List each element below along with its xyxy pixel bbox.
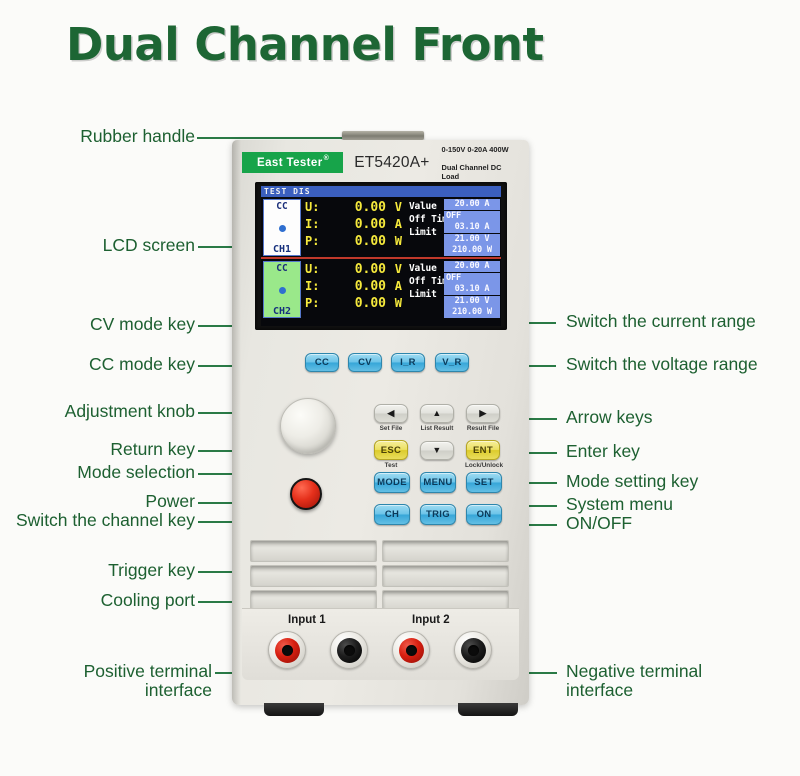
- mode-key[interactable]: MODE: [374, 472, 410, 493]
- annotation-mode-selection: Mode selection: [0, 463, 195, 482]
- input-1-negative-terminal[interactable]: [330, 631, 368, 669]
- channel-1-value-column: 20.00 A OFF 03.10 A 21.00 V 210.00 W: [444, 199, 500, 257]
- annotation-cv-mode-key: CV mode key: [0, 315, 195, 334]
- lcd-channel-1: CC CH1 U:0.00V I:0.00A P:0.00W Value Off…: [261, 197, 501, 259]
- page-title: Dual Channel Front: [66, 18, 543, 71]
- readout-value: 0.00: [322, 279, 386, 294]
- readout-label: U:: [305, 200, 322, 214]
- rubber-handle[interactable]: [342, 131, 424, 140]
- annotation-power: Power: [0, 492, 195, 511]
- esc-return-key[interactable]: ESC: [374, 440, 408, 460]
- input-1-label: Input 1: [288, 614, 326, 626]
- lcd-status-bar: TEST DIS: [261, 186, 501, 197]
- terminal-socket-red: [399, 638, 424, 663]
- trig-key[interactable]: TRIG: [420, 504, 456, 525]
- cooling-vent: [382, 565, 509, 587]
- value-cell[interactable]: 20.00 A: [444, 199, 500, 210]
- value-cell[interactable]: 20.00 A: [444, 261, 500, 272]
- annotation-system-menu: System menu: [566, 495, 673, 514]
- annotation-trigger-key: Trigger key: [0, 561, 195, 580]
- value-cell[interactable]: 210.00 W: [444, 307, 500, 318]
- readout-row: U:0.00V: [305, 200, 402, 217]
- annotation-return-key: Return key: [0, 440, 195, 459]
- annotation-positive-terminal: Positive terminal interface: [0, 662, 212, 700]
- arrow-right-icon: ▶: [479, 409, 486, 418]
- set-key[interactable]: SET: [466, 472, 502, 493]
- value-cell[interactable]: 21.00 V: [444, 296, 500, 307]
- current-range-key[interactable]: I_R: [391, 353, 425, 372]
- device-foot-right: [458, 703, 518, 716]
- annotation-on-off: ON/OFF: [566, 514, 632, 533]
- readout-row: U:0.00V: [305, 262, 402, 279]
- arrow-right-key[interactable]: ▶: [466, 404, 500, 423]
- input-2-label: Input 2: [412, 614, 450, 626]
- annotation-switch-channel-key: Switch the channel key: [0, 511, 195, 530]
- channel-2-indicator-dot: [279, 287, 286, 294]
- power-button[interactable]: [290, 478, 322, 510]
- annotation-mode-setting-key: Mode setting key: [566, 472, 698, 491]
- readout-value: 0.00: [322, 217, 386, 232]
- readout-unit: V: [386, 200, 402, 214]
- arrow-left-key[interactable]: ◀: [374, 404, 408, 423]
- result-file-sublabel: Result File: [464, 425, 502, 432]
- lcd-display: TEST DIS CC CH1 U:0.00V I:0.00A P:0.00W: [261, 186, 501, 326]
- device-front-panel: East Tester® ET5420A+ 0-150V 0-20A 400W …: [232, 140, 529, 705]
- channel-1-readouts: U:0.00V I:0.00A P:0.00W: [305, 200, 402, 251]
- arrow-up-key[interactable]: ▲: [420, 404, 454, 423]
- arrow-down-key[interactable]: ▼: [420, 441, 454, 460]
- channel-2-readouts: U:0.00V I:0.00A P:0.00W: [305, 262, 402, 313]
- value-cell[interactable]: 210.00 W: [444, 245, 500, 256]
- device-foot-left: [264, 703, 324, 716]
- readout-row: P:0.00W: [305, 234, 402, 251]
- voltage-range-key[interactable]: V_R: [435, 353, 469, 372]
- channel-1-indicator-dot: [279, 225, 286, 232]
- specs-line-1: 0-150V 0-20A 400W: [441, 145, 519, 154]
- value-cell[interactable]: OFF: [444, 211, 500, 222]
- value-cell[interactable]: 03.10 A: [444, 222, 500, 233]
- readout-row: I:0.00A: [305, 217, 402, 234]
- channel-1-mode: CC: [276, 201, 287, 212]
- test-sublabel: Test: [374, 462, 408, 469]
- channel-2-value-column: 20.00 A OFF 03.10 A 21.00 V 210.00 W: [444, 261, 500, 319]
- value-cell[interactable]: 21.00 V: [444, 234, 500, 245]
- arrow-left-icon: ◀: [387, 409, 394, 418]
- readout-unit: A: [386, 217, 402, 231]
- readout-value: 0.00: [322, 234, 386, 249]
- annotation-rubber-handle: Rubber handle: [0, 127, 195, 146]
- ent-enter-key[interactable]: ENT: [466, 440, 500, 460]
- annotation-enter-key: Enter key: [566, 442, 640, 461]
- readout-label: U:: [305, 262, 322, 276]
- annotation-arrow-keys: Arrow keys: [566, 408, 653, 427]
- readout-unit: W: [386, 234, 402, 248]
- input-2-positive-terminal[interactable]: [392, 631, 430, 669]
- readout-row: P:0.00W: [305, 296, 402, 313]
- menu-key[interactable]: MENU: [420, 472, 456, 493]
- readout-label: P:: [305, 234, 322, 248]
- cooling-vent: [250, 565, 377, 587]
- adjustment-knob[interactable]: [280, 398, 336, 454]
- cc-mode-key[interactable]: CC: [305, 353, 339, 372]
- channel-1-name: CH1: [273, 244, 291, 255]
- terminal-socket-black: [461, 638, 486, 663]
- channel-2-selector[interactable]: CC CH2: [263, 261, 301, 318]
- annotation-negative-terminal: Negative terminal interface: [566, 662, 702, 700]
- value-cell[interactable]: OFF: [444, 273, 500, 284]
- terminal-socket-red: [275, 638, 300, 663]
- lcd-channel-2: CC CH2 U:0.00V I:0.00A P:0.00W Value Off…: [261, 259, 501, 321]
- input-2-negative-terminal[interactable]: [454, 631, 492, 669]
- cooling-vent: [382, 540, 509, 562]
- terminal-socket-black: [337, 638, 362, 663]
- specs-line-2: Dual Channel DC Load: [441, 163, 519, 181]
- annotation-cooling-port: Cooling port: [0, 591, 195, 610]
- cv-mode-key[interactable]: CV: [348, 353, 382, 372]
- on-off-key[interactable]: ON: [466, 504, 502, 525]
- annotation-cc-mode-key: CC mode key: [0, 355, 195, 374]
- lcd-screen: TEST DIS CC CH1 U:0.00V I:0.00A P:0.00W: [255, 182, 507, 330]
- channel-2-mode: CC: [276, 263, 287, 274]
- cooling-vent: [250, 540, 377, 562]
- lock-unlock-sublabel: Lock/Unlock: [460, 462, 508, 469]
- readout-value: 0.00: [322, 200, 386, 215]
- brand-name: East Tester: [257, 157, 323, 169]
- input-1-positive-terminal[interactable]: [268, 631, 306, 669]
- arrow-up-icon: ▲: [432, 409, 441, 418]
- annotation-lcd-screen: LCD screen: [0, 236, 195, 255]
- brand-badge: East Tester®: [242, 152, 343, 173]
- terminal-panel: Input 1 Input 2: [242, 608, 519, 680]
- arrow-down-icon: ▼: [432, 446, 441, 455]
- readout-unit: A: [386, 279, 402, 293]
- set-file-sublabel: Set File: [374, 425, 408, 432]
- readout-label: P:: [305, 296, 322, 310]
- readout-value: 0.00: [322, 262, 386, 277]
- model-number: ET5420A+: [354, 154, 429, 172]
- readout-unit: V: [386, 262, 402, 276]
- registered-icon: ®: [324, 155, 330, 162]
- readout-value: 0.00: [322, 296, 386, 311]
- annotation-switch-current-range: Switch the current range: [566, 312, 756, 331]
- list-result-sublabel: List Result: [416, 425, 458, 432]
- annotation-switch-voltage-range: Switch the voltage range: [566, 355, 758, 374]
- brand-row: East Tester® ET5420A+ 0-150V 0-20A 400W …: [242, 149, 519, 176]
- value-cell[interactable]: 03.10 A: [444, 284, 500, 295]
- readout-label: I:: [305, 279, 322, 293]
- readout-unit: W: [386, 296, 402, 310]
- channel-1-selector[interactable]: CC CH1: [263, 199, 301, 256]
- annotation-adjustment-knob: Adjustment knob: [0, 402, 195, 421]
- readout-row: I:0.00A: [305, 279, 402, 296]
- readout-label: I:: [305, 217, 322, 231]
- ch-key[interactable]: CH: [374, 504, 410, 525]
- channel-2-name: CH2: [273, 306, 291, 317]
